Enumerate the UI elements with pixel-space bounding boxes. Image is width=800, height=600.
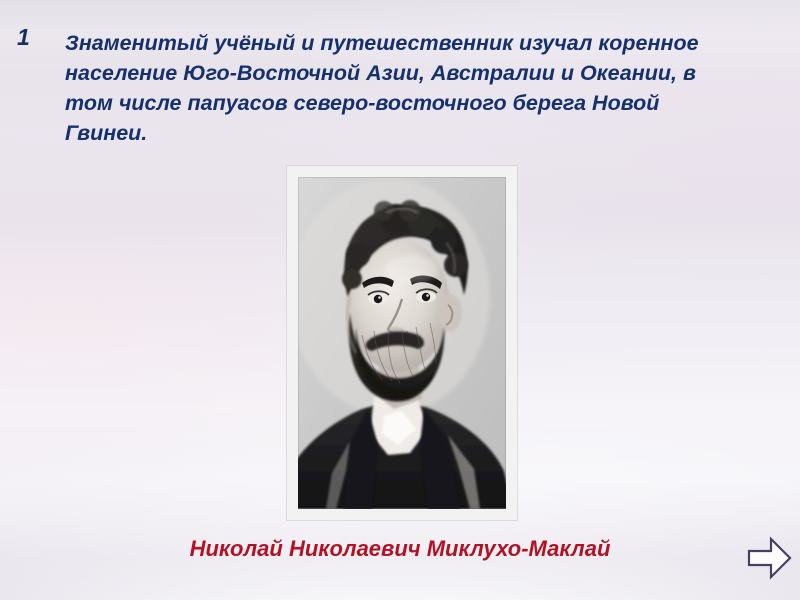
body-line-2: население Юго-Восточной Азии, Австралии … bbox=[65, 58, 777, 88]
portrait-photo bbox=[298, 177, 506, 509]
portrait-caption: Николай Николаевич Миклухо-Маклай bbox=[0, 536, 800, 562]
body-line-1: Знаменитый учёный и путешественник изуча… bbox=[65, 28, 777, 58]
portrait-photo-icon bbox=[298, 177, 506, 509]
body-line-4: Гвинеи. bbox=[65, 118, 777, 148]
slide-number: 1 bbox=[17, 24, 30, 51]
slide-body-text: Знаменитый учёный и путешественник изуча… bbox=[65, 28, 777, 148]
body-line-3: том числе папуасов северо-восточного бер… bbox=[65, 88, 777, 118]
arrow-right-icon[interactable] bbox=[745, 534, 793, 582]
next-slide-button[interactable] bbox=[745, 534, 793, 582]
presentation-slide: 1 Знаменитый учёный и путешественник изу… bbox=[0, 0, 800, 600]
portrait-frame bbox=[287, 166, 517, 520]
